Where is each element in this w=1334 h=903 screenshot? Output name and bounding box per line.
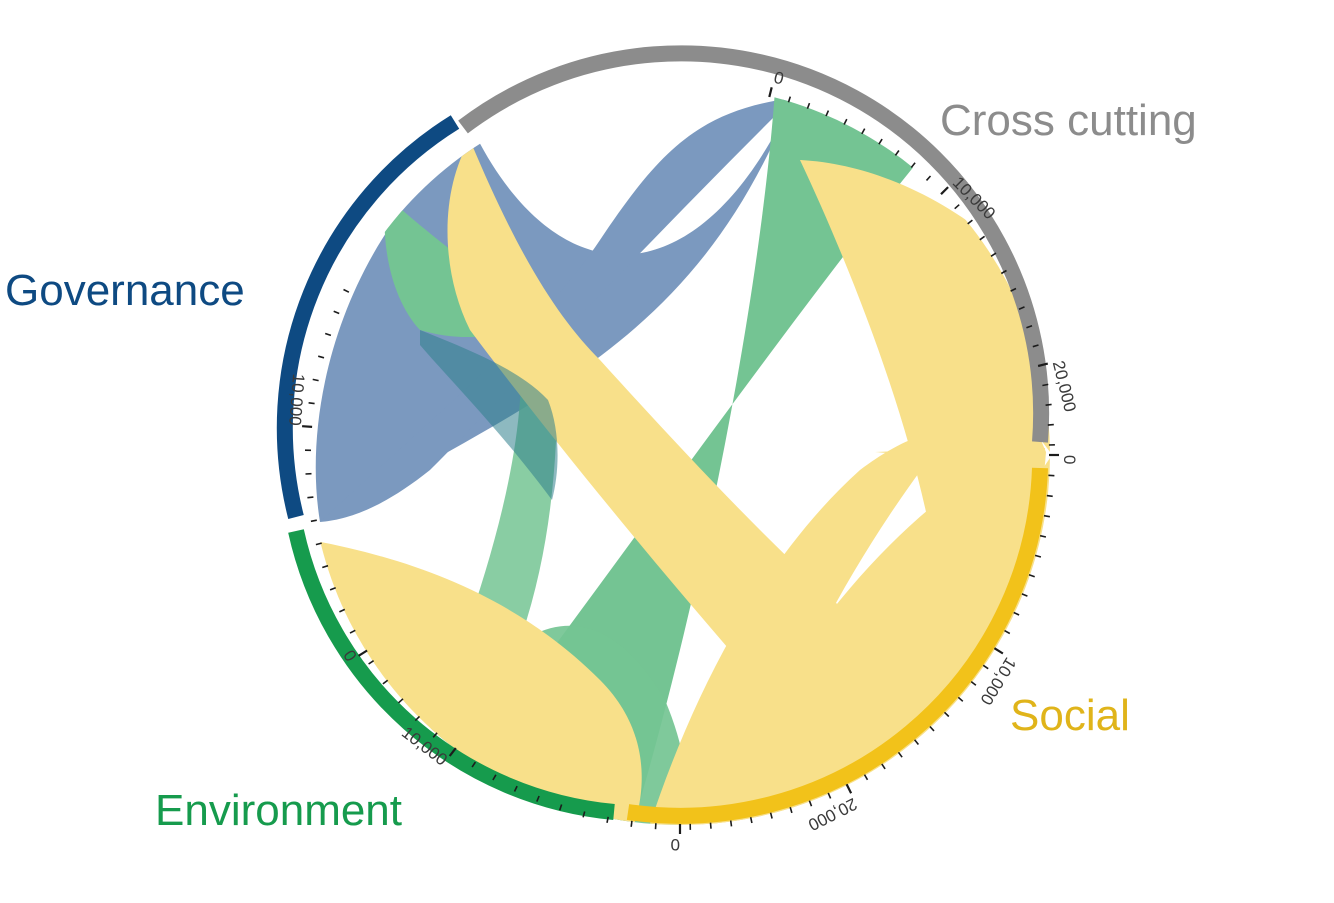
axis-tick <box>383 680 388 684</box>
axis-tick <box>1047 496 1053 497</box>
axis-tick <box>789 97 791 103</box>
axis-tick <box>1029 575 1035 577</box>
axis-tick <box>1044 516 1050 517</box>
axis-tick <box>318 356 324 358</box>
axis-tick <box>945 712 949 716</box>
axis-tick <box>339 609 344 612</box>
axis-tick <box>313 379 319 380</box>
chord-diagram-svg: 010,00020,000010,00020,000010,000010,000… <box>0 0 1334 903</box>
axis-tick <box>879 139 882 144</box>
axis-tick <box>911 163 915 168</box>
group-label-governance: Governance <box>5 266 245 315</box>
axis-tick <box>968 220 973 224</box>
axis-tick <box>844 119 847 124</box>
axis-tick-label: 0 <box>1060 455 1079 464</box>
axis-tick <box>809 801 811 807</box>
axis-tick <box>994 648 1003 653</box>
axis-tick <box>322 566 328 568</box>
axis-tick-label: 20,000 <box>805 794 860 834</box>
axis-tick <box>983 665 988 668</box>
axis-tick <box>927 176 931 180</box>
axis-tick <box>316 543 322 545</box>
axis-tick <box>1042 384 1048 385</box>
axis-tick <box>711 823 712 829</box>
axis-tick <box>930 727 934 731</box>
group-label-social: Social <box>1010 691 1130 740</box>
axis-tick <box>771 813 773 819</box>
axis-tick <box>826 111 828 117</box>
axis-tick <box>631 821 632 827</box>
axis-tick <box>399 699 404 703</box>
axis-tick <box>369 661 374 664</box>
axis-tick <box>958 697 963 701</box>
axis-tick <box>865 775 868 780</box>
axis-tick <box>899 752 903 757</box>
axis-tick <box>1035 555 1041 557</box>
axis-tick <box>828 793 830 799</box>
axis-tick-label: 20,000 <box>1049 359 1080 414</box>
axis-tick <box>971 682 976 686</box>
axis-tick <box>344 290 349 293</box>
axis-tick <box>895 151 899 156</box>
axis-tick <box>847 784 852 793</box>
group-label-environment: Environment <box>155 786 402 835</box>
axis-tick <box>790 807 792 813</box>
axis-tick <box>1022 594 1028 596</box>
axis-tick <box>955 205 960 209</box>
axis-tick <box>1040 536 1046 537</box>
axis-tick <box>941 187 948 194</box>
axis-tick <box>862 129 865 134</box>
axis-tick-label: 0 <box>671 835 680 854</box>
axis-tick <box>1005 631 1010 634</box>
axis-tick <box>334 311 340 313</box>
axis-tick <box>731 821 732 827</box>
axis-tick <box>311 520 317 521</box>
axis-tick <box>882 764 885 769</box>
axis-tick <box>1046 404 1052 405</box>
axis-tick <box>325 334 331 336</box>
axis-tick <box>307 497 313 498</box>
axis-tick <box>1048 425 1054 426</box>
axis-tick <box>330 588 336 590</box>
axis-tick <box>991 253 996 256</box>
chord-diagram-figure: 010,00020,000010,00020,000010,000010,000… <box>0 0 1334 903</box>
axis-tick <box>769 87 771 97</box>
axis-tick <box>751 817 752 823</box>
axis-tick <box>1014 613 1019 616</box>
axis-tick <box>350 630 355 633</box>
axis-tick <box>309 403 315 404</box>
axis-tick-label: 10,000 <box>285 373 308 426</box>
axis-tick <box>807 103 809 109</box>
axis-tick <box>915 740 919 745</box>
axis-tick <box>980 236 985 240</box>
group-label-cross-cutting: Cross cutting <box>940 96 1197 145</box>
